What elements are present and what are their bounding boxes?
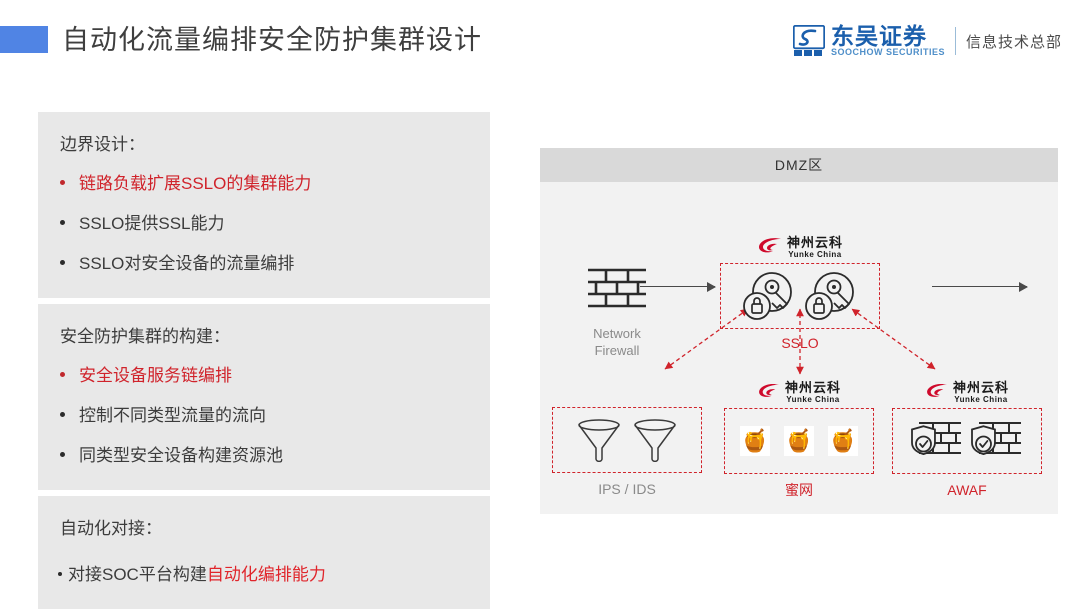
ips-ids-box [552, 407, 702, 473]
list-item: SSLO对安全设备的流量编排 [38, 244, 490, 284]
bullet-dot-icon [60, 412, 65, 417]
awaf-box [892, 408, 1042, 474]
honeynet-node: 神州云科 Yunke China 🍯 🍯 🍯 蜜网 [724, 379, 874, 499]
security-pool-row: IPS / IDS 神州云科 Yunke China [540, 387, 1058, 507]
list-item-text-plain: 对接SOC平台构建 [68, 565, 207, 584]
yunke-swoosh-icon [925, 383, 949, 401]
page-title: 自动化流量编排安全防护集群设计 [62, 20, 482, 60]
yunke-swoosh-icon [757, 237, 783, 257]
block-title: 边界设计： [38, 126, 490, 164]
firewall-label: Network Firewall [562, 325, 672, 359]
yunke-swoosh-icon [757, 383, 781, 401]
bullet-dot-icon [60, 372, 65, 377]
list-item-label: SSLO提供SSL能力 [79, 209, 225, 239]
list-item-label: 对接SOC平台构建自动化编排能力 [68, 560, 326, 590]
dmz-zone-header: DMZ区 [540, 148, 1058, 182]
brand-name-en: SOOCHOW SECURITIES [831, 47, 945, 58]
arrow-firewall-to-sslo [640, 282, 715, 292]
awaf-node: 神州云科 Yunke China [892, 379, 1042, 499]
list-item: 对接SOC平台构建自动化编排能力 [38, 548, 490, 595]
honey-pot-icon: 🍯 [828, 426, 858, 456]
arrow-sslo-to-outside [932, 282, 1027, 292]
vendor-name: 神州云科 Yunke China [785, 381, 841, 404]
list-item: 链路负载扩展SSLO的集群能力 [38, 164, 490, 204]
bullet-dot-icon [60, 260, 65, 265]
list-item-label: 链路负载扩展SSLO的集群能力 [79, 169, 311, 199]
list-item-label: SSLO对安全设备的流量编排 [79, 249, 294, 279]
funnel-icon [632, 418, 678, 462]
vendor-logo-yunke: 神州云科 Yunke China [892, 379, 1042, 405]
title-accent-bar [0, 26, 48, 53]
bullet-dot-icon [60, 220, 65, 225]
vendor-logo-yunke: 神州云科 Yunke China [720, 234, 880, 260]
key-lock-icon [741, 270, 797, 322]
list-item-text-highlight: 自动化编排能力 [207, 565, 326, 584]
left-content-column: 边界设计： 链路负载扩展SSLO的集群能力 SSLO提供SSL能力 SSLO对安… [38, 112, 490, 615]
dmz-zone-label: DMZ区 [775, 155, 823, 175]
vendor-name: 神州云科 Yunke China [953, 381, 1009, 404]
sslo-cluster-box [720, 263, 880, 329]
scs-logo-icon [793, 25, 825, 57]
list-item: 控制不同类型流量的流向 [38, 396, 490, 436]
shield-wall-icon [911, 418, 963, 464]
list-item: 同类型安全设备构建资源池 [38, 436, 490, 476]
content-block-cluster-build: 安全防护集群的构建： 安全设备服务链编排 控制不同类型流量的流向 同类型安全设备… [38, 304, 490, 490]
list-item: SSLO提供SSL能力 [38, 204, 490, 244]
list-item: 安全设备服务链编排 [38, 356, 490, 396]
funnel-icon [576, 418, 622, 462]
diagram-body: Network Firewall 神州云科 Yunke China [540, 182, 1058, 514]
bullet-dot-icon [60, 452, 65, 457]
content-block-automation: 自动化对接： 对接SOC平台构建自动化编排能力 [38, 496, 490, 609]
ips-ids-label: IPS / IDS [552, 481, 702, 498]
ips-ids-node: IPS / IDS [552, 407, 702, 498]
brand-divider [955, 27, 956, 55]
network-firewall-node: Network Firewall [562, 264, 672, 359]
brand-text: 东吴证券 SOOCHOW SECURITIES [831, 24, 945, 58]
brand-lockup: 东吴证券 SOOCHOW SECURITIES 信息技术总部 [793, 22, 1062, 60]
bullet-dot-icon [58, 572, 62, 576]
key-lock-icon [803, 270, 859, 322]
dmz-diagram-panel: DMZ区 [540, 148, 1058, 514]
list-item-label: 控制不同类型流量的流向 [79, 401, 266, 431]
honeynet-box: 🍯 🍯 🍯 [724, 408, 874, 474]
vendor-name: 神州云科 Yunke China [787, 236, 843, 259]
brand-department: 信息技术总部 [966, 31, 1062, 52]
list-item-label: 同类型安全设备构建资源池 [79, 441, 283, 471]
brick-wall-icon [586, 264, 648, 312]
awaf-label: AWAF [892, 482, 1042, 499]
slide-root: 自动化流量编排安全防护集群设计 东吴证券 SOOCHOW SECURITIES … [0, 0, 1080, 608]
sslo-node: 神州云科 Yunke China [720, 234, 880, 352]
honeynet-label: 蜜网 [724, 482, 874, 499]
sslo-label: SSLO [720, 335, 880, 352]
honey-pot-icon: 🍯 [784, 426, 814, 456]
block-title: 安全防护集群的构建： [38, 318, 490, 356]
shield-wall-icon [971, 418, 1023, 464]
list-item-label: 安全设备服务链编排 [79, 361, 232, 391]
vendor-logo-yunke: 神州云科 Yunke China [724, 379, 874, 405]
honey-pot-icon: 🍯 [740, 426, 770, 456]
content-block-boundary-design: 边界设计： 链路负载扩展SSLO的集群能力 SSLO提供SSL能力 SSLO对安… [38, 112, 490, 298]
block-title: 自动化对接： [38, 510, 490, 548]
bullet-dot-icon [60, 180, 65, 185]
brand-name-cn: 东吴证券 [831, 25, 945, 47]
